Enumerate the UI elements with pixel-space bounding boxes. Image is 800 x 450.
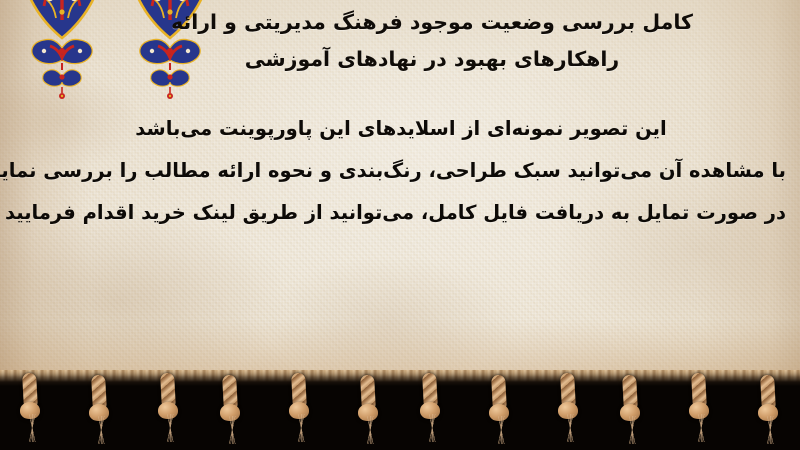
tassel	[152, 371, 186, 441]
tassel-brush	[757, 416, 783, 444]
tassel-brush	[288, 414, 314, 442]
tassel-brush	[619, 416, 645, 444]
tassel	[214, 373, 248, 443]
tassel	[483, 373, 517, 443]
tassel	[283, 371, 317, 441]
body-line-2: با مشاهده آن می‌توانید سبک طراحی، رنگ‌بن…	[16, 150, 786, 192]
tassel-brush	[19, 414, 45, 442]
tassel-brush	[157, 414, 183, 442]
tassel	[352, 373, 386, 443]
title-line-2: راهکارهای بهبود در نهادهای آموزشی	[82, 41, 782, 78]
tassel-brush	[219, 416, 245, 444]
tassel-brush	[88, 416, 114, 444]
slide-body: این تصویر نمونه‌ای از اسلایدهای این پاور…	[16, 108, 786, 234]
text-layer: کامل بررسی وضعیت موجود فرهنگ مدیریتی و ا…	[0, 0, 800, 378]
tassel	[83, 373, 117, 443]
body-line-3: در صورت تمایل به دریافت فایل کامل، می‌تو…	[16, 192, 786, 234]
tassel	[14, 371, 48, 441]
tassel-brush	[419, 414, 445, 442]
title-line-1: کامل بررسی وضعیت موجود فرهنگ مدیریتی و ا…	[82, 4, 782, 41]
tassel-brush	[357, 416, 383, 444]
fringe-weave-crest	[0, 370, 800, 382]
slide-title: کامل بررسی وضعیت موجود فرهنگ مدیریتی و ا…	[82, 4, 782, 78]
slide-canvas: کامل بررسی وضعیت موجود فرهنگ مدیریتی و ا…	[0, 0, 800, 450]
tassel	[683, 371, 717, 441]
tassel-brush	[688, 414, 714, 442]
tassel-brush	[557, 414, 583, 442]
tassel	[614, 373, 648, 443]
tassel-brush	[488, 416, 514, 444]
tassel-fringe	[0, 370, 800, 450]
tassel	[552, 371, 586, 441]
body-line-1: این تصویر نمونه‌ای از اسلایدهای این پاور…	[16, 108, 786, 150]
tassel	[752, 373, 786, 443]
tassel	[414, 371, 448, 441]
